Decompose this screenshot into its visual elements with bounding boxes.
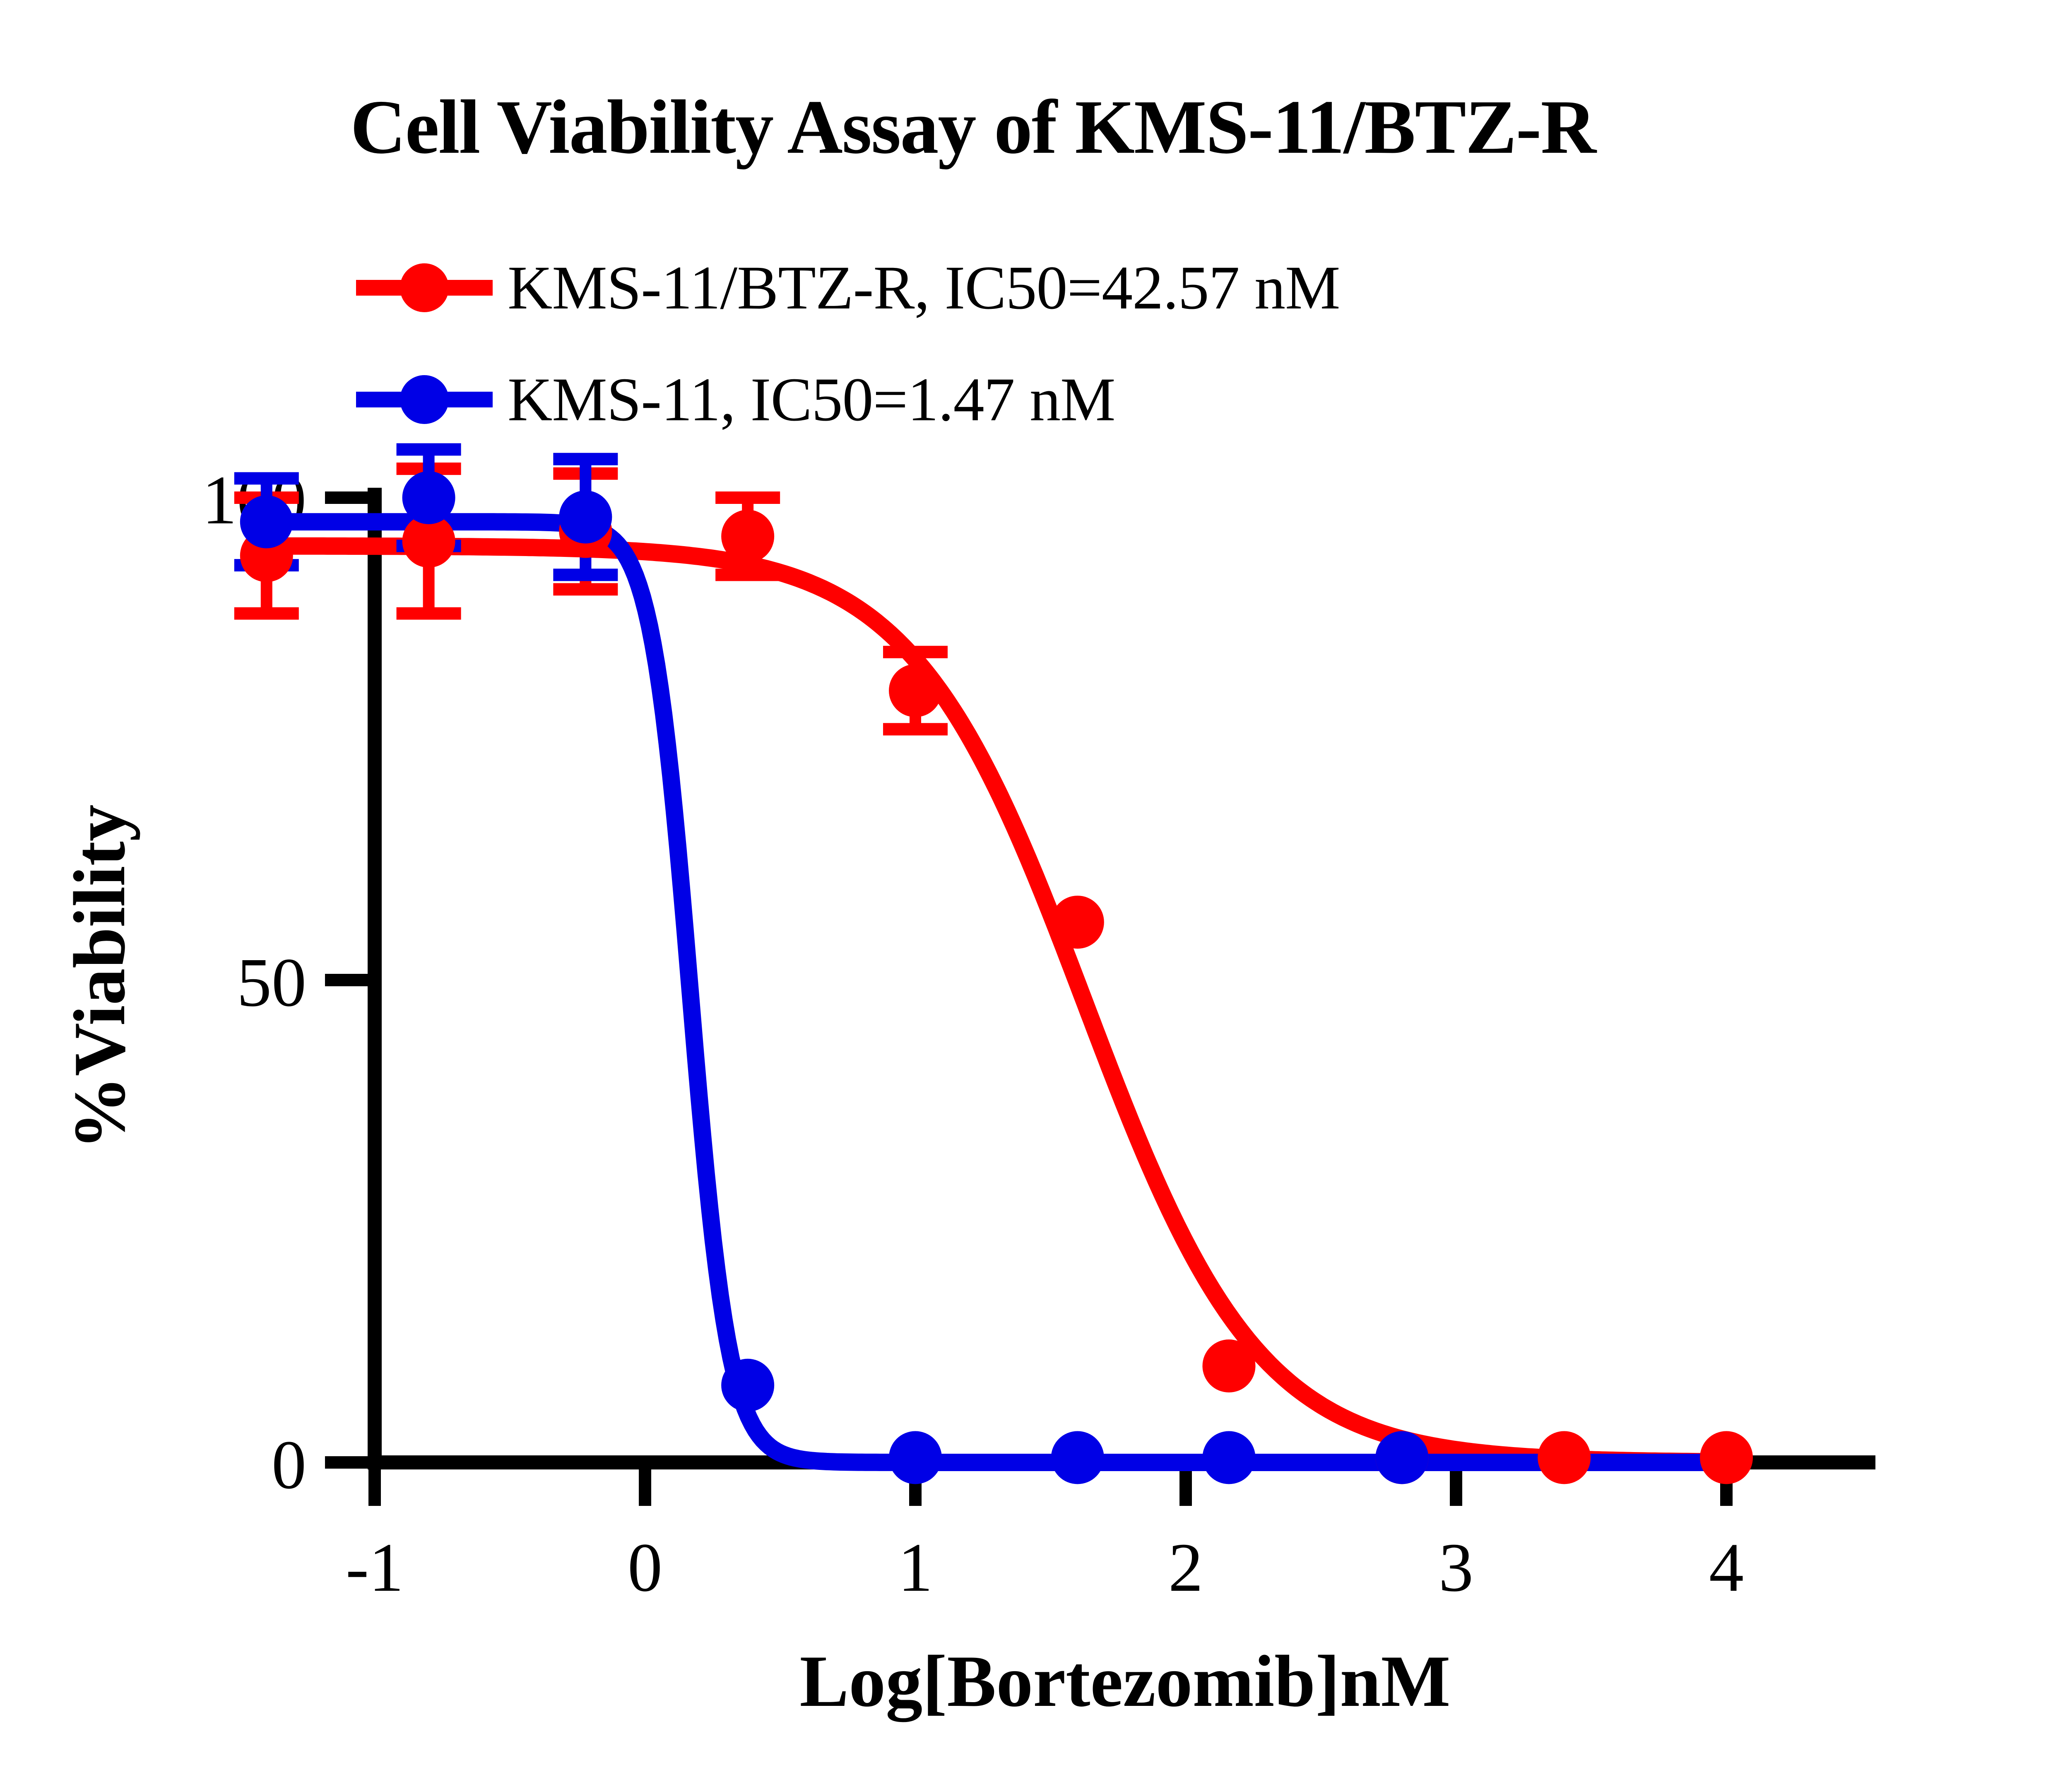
data-point-0-3[interactable] [721,510,774,563]
data-point-1-5[interactable] [1051,1431,1104,1484]
y-axis-title: %Viability [58,804,140,1150]
x-axis-title: Log[Bortezomib]nM [799,1640,1450,1722]
x-tick-label--1: -1 [346,1529,404,1606]
x-tick-label-2: 2 [1168,1529,1203,1606]
data-point-1-2[interactable] [559,491,612,544]
series-curve-1 [253,522,1740,1462]
plot-area: 050100-101234Log[Bortezomib]nM%Viability [0,0,2070,1792]
x-tick-label-1: 1 [898,1529,933,1606]
figure-root: Cell Viability Assay of KMS-11/BTZ-R KMS… [0,0,2070,1792]
x-tick-label-0: 0 [628,1529,662,1606]
x-tick-label-4: 4 [1709,1529,1744,1606]
data-point-0-6[interactable] [1202,1339,1255,1392]
data-point-1-3[interactable] [721,1359,774,1412]
y-tick-label-0: 0 [272,1426,306,1503]
x-tick-label-3: 3 [1439,1529,1473,1606]
data-point-1-0[interactable] [240,495,293,548]
data-point-0-9[interactable] [1700,1431,1753,1484]
data-point-0-8[interactable] [1538,1431,1591,1484]
data-point-1-4[interactable] [889,1431,942,1484]
y-tick-label-50: 50 [237,944,306,1021]
data-point-0-5[interactable] [1051,896,1104,949]
series-curve-0 [253,546,1740,1462]
data-point-1-1[interactable] [402,471,455,524]
data-point-1-6[interactable] [1202,1431,1255,1484]
data-point-0-4[interactable] [889,664,942,717]
data-point-1-7[interactable] [1375,1431,1428,1484]
